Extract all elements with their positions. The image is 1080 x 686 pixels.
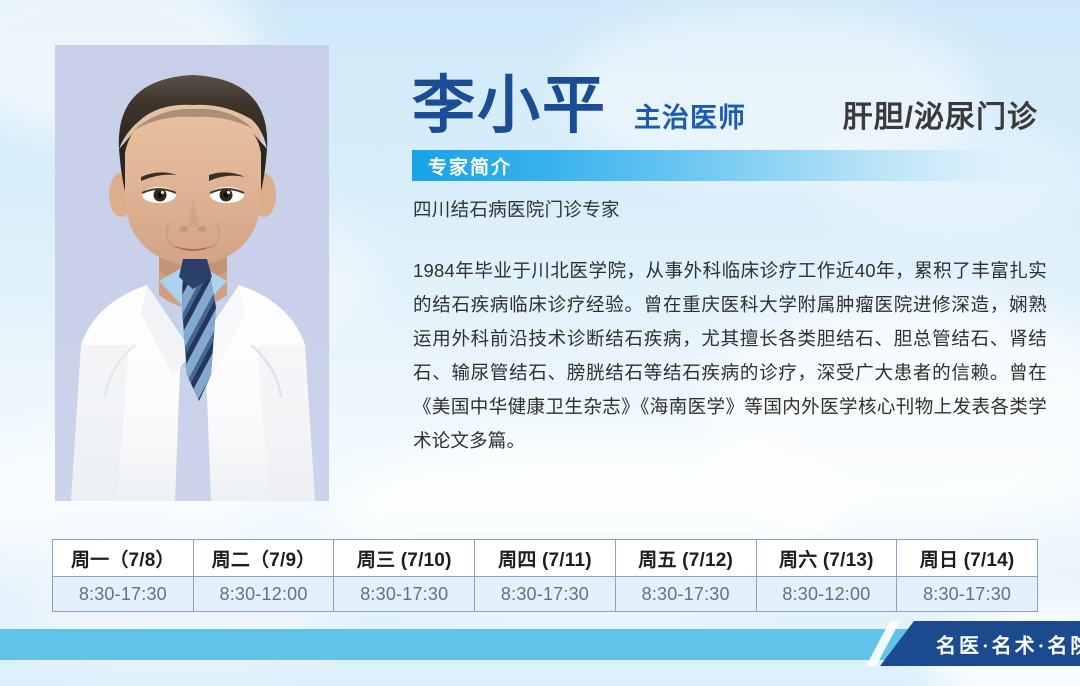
profile-section-title: 专家简介 — [428, 152, 512, 179]
doctor-biography: 四川结石病医院门诊专家 1984年毕业于川北医学院，从事外科临床诊疗工作近40年… — [413, 196, 1047, 458]
schedule-day-header: 周二（7/9） — [193, 540, 334, 577]
schedule-day-header: 周五 (7/12) — [615, 540, 756, 577]
biography-text: 1984年毕业于川北医学院，从事外科临床诊疗工作近40年，累积了丰富扎实的结石疾… — [413, 254, 1047, 458]
profile-section-bar: 专家简介 — [412, 150, 1040, 181]
schedule-day-time: 8:30-17:30 — [53, 577, 194, 612]
schedule-day-time: 8:30-17:30 — [334, 577, 475, 612]
schedule-header-row: 周一（7/8） 周二（7/9） 周三 (7/10) 周四 (7/11) 周五 (… — [53, 540, 1038, 577]
doctor-rank: 主治医师 — [634, 105, 746, 132]
doctor-department: 肝胆/泌尿门诊 — [843, 103, 1038, 133]
schedule-day-time: 8:30-17:30 — [475, 577, 616, 612]
schedule-day-header: 周三 (7/10) — [334, 540, 475, 577]
schedule-day-header: 周一（7/8） — [53, 540, 194, 577]
schedule-day-header: 周日 (7/14) — [897, 540, 1038, 577]
schedule-day-header: 周四 (7/11) — [475, 540, 616, 577]
schedule-day-time: 8:30-17:30 — [897, 577, 1038, 612]
footer-slogan-text: 名医·名术·名院 — [936, 629, 1080, 658]
doctor-name: 李小平 — [412, 75, 607, 138]
affiliation-line: 四川结石病医院门诊专家 — [413, 196, 1047, 224]
schedule-day-time: 8:30-12:00 — [756, 577, 897, 612]
schedule-day-time: 8:30-12:00 — [193, 577, 334, 612]
doctor-header: 李小平 主治医师 肝胆/泌尿门诊 — [412, 46, 1052, 138]
footer-slogan-badge: 名医·名术·名院 — [880, 621, 1080, 666]
schedule-time-row: 8:30-17:30 8:30-12:00 8:30-17:30 8:30-17… — [53, 577, 1038, 612]
doctor-photo — [55, 45, 329, 501]
schedule-day-time: 8:30-17:30 — [615, 577, 756, 612]
schedule-day-header: 周六 (7/13) — [756, 540, 897, 577]
poster-canvas: 李小平 主治医师 肝胆/泌尿门诊 专家简介 四川结石病医院门诊专家 1984年毕… — [0, 0, 1080, 686]
schedule-table: 周一（7/8） 周二（7/9） 周三 (7/10) 周四 (7/11) 周五 (… — [52, 539, 1038, 612]
